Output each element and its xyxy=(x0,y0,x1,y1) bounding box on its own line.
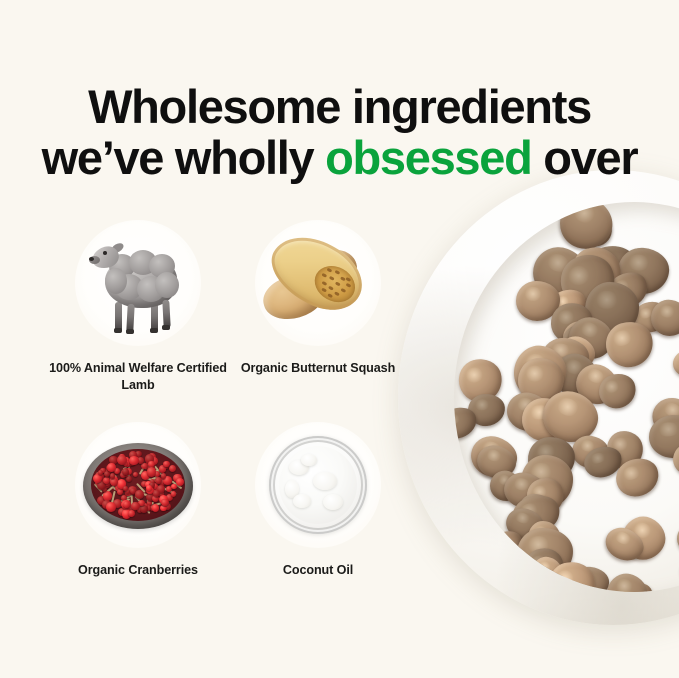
sheep-wool-tuft xyxy=(105,268,127,294)
cranberry xyxy=(107,463,115,471)
headline-accent-word: obsessed xyxy=(325,131,531,184)
cranberry xyxy=(152,504,159,511)
sheep-eye xyxy=(103,251,107,255)
grid-row-spacer xyxy=(48,394,408,422)
ingredient-row-2: Organic Cranberries xyxy=(48,422,408,579)
headline-line-2: we’ve wholly obsessed over xyxy=(0,132,679,183)
ingredient-grid: 100% Animal Welfare Certified Lamb xyxy=(48,220,408,579)
kibble-piece xyxy=(673,350,679,379)
cranberry xyxy=(117,455,127,465)
cranberry xyxy=(133,472,138,477)
cranberry xyxy=(169,465,177,473)
cranberry xyxy=(110,478,118,486)
cranberry xyxy=(110,473,115,478)
cranberry xyxy=(122,468,129,475)
oil-lump xyxy=(301,454,317,466)
ingredient-item-cranberries: Organic Cranberries xyxy=(48,422,228,579)
cranberry xyxy=(147,467,156,476)
cranberry xyxy=(123,486,128,491)
ingredient-item-coconut-oil: Coconut Oil xyxy=(228,422,408,579)
cranberry xyxy=(176,478,184,486)
lamb-image-disc xyxy=(75,220,201,346)
sheep-wool-tuft xyxy=(155,272,179,298)
ingredient-label-cranberries: Organic Cranberries xyxy=(48,562,228,579)
cranberry-pile xyxy=(91,449,185,521)
cranberry xyxy=(104,471,110,477)
sheep-leg xyxy=(162,300,170,328)
ingredient-label-lamb: 100% Animal Welfare Certified Lamb xyxy=(48,360,228,394)
cranberry xyxy=(135,490,144,499)
ingredient-row-1: 100% Animal Welfare Certified Lamb xyxy=(48,220,408,394)
squash-image-disc xyxy=(255,220,381,346)
cranberry xyxy=(153,490,160,497)
butternut-squash-photo xyxy=(255,220,381,346)
kibble-bowl-photo xyxy=(398,170,679,640)
kibble-piece xyxy=(603,570,652,592)
sheep-hoof xyxy=(126,329,134,334)
coconut-oil-contents xyxy=(279,446,357,524)
headline-text-before: we’ve wholly xyxy=(42,131,325,184)
oil-lump xyxy=(293,494,311,508)
sheep-photo xyxy=(75,220,201,346)
page-headline: Wholesome ingredients we’ve wholly obses… xyxy=(0,81,679,183)
cranberry xyxy=(171,491,177,497)
sheep-hoof xyxy=(114,328,122,333)
sheep-nose xyxy=(89,257,94,261)
cranberry xyxy=(128,510,136,518)
cranberry xyxy=(161,499,169,507)
bowl-interior xyxy=(454,202,679,592)
cranberry xyxy=(171,484,177,490)
promo-banner: Wholesome ingredients we’ve wholly obses… xyxy=(0,0,679,678)
cranberry xyxy=(129,456,139,466)
cranberry xyxy=(163,461,170,468)
sheep-hoof xyxy=(150,328,158,333)
sheep-leg xyxy=(126,304,134,332)
cranberry xyxy=(161,473,167,479)
cranberry xyxy=(131,502,139,510)
cranberry xyxy=(117,489,123,495)
cranberry xyxy=(126,476,132,482)
headline-line-1: Wholesome ingredients xyxy=(0,81,679,132)
oil-lump xyxy=(323,494,343,510)
cranberry xyxy=(98,470,103,475)
ingredient-item-lamb: 100% Animal Welfare Certified Lamb xyxy=(48,220,228,394)
ingredient-item-butternut-squash: Organic Butternut Squash xyxy=(228,220,408,394)
headline-text-after: over xyxy=(532,131,638,184)
cranberries-image-disc xyxy=(75,422,201,548)
oil-lump xyxy=(313,472,337,490)
coconut-oil-jar-photo xyxy=(255,422,381,548)
coconut-oil-image-disc xyxy=(255,422,381,548)
ingredient-label-coconut-oil: Coconut Oil xyxy=(228,562,408,579)
cranberry xyxy=(123,501,130,508)
cranberries-bowl-photo xyxy=(75,422,201,548)
sheep-hoof xyxy=(162,325,170,330)
cranberry xyxy=(106,502,116,512)
ingredient-label-squash: Organic Butternut Squash xyxy=(228,360,408,377)
kibble-pieces xyxy=(464,212,679,592)
